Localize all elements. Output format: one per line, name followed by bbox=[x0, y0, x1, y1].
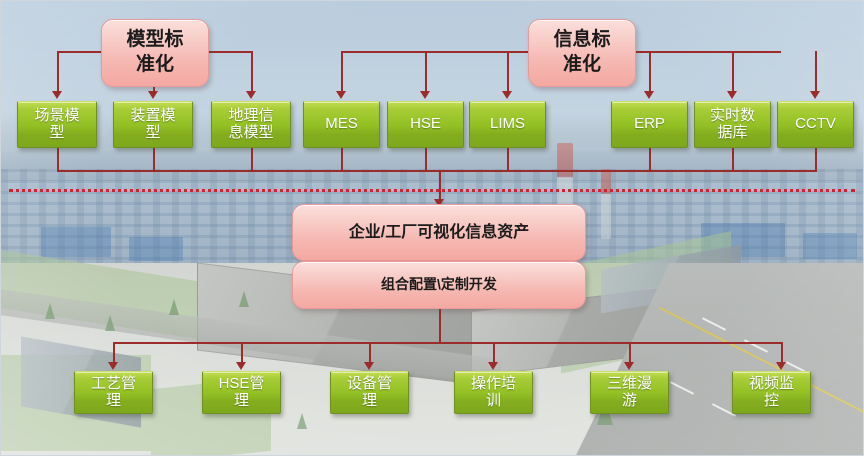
connector-app-training bbox=[493, 342, 495, 364]
arrow-down-icon bbox=[108, 362, 118, 370]
connector-app-roaming bbox=[629, 342, 631, 364]
node-hse-mgmt-line1: HSE管 bbox=[219, 375, 265, 392]
connector-cctv-drop bbox=[815, 148, 817, 172]
connector-device-drop bbox=[153, 148, 155, 172]
node-mes[interactable]: MES bbox=[303, 101, 380, 148]
node-model-standard-line2: 准化 bbox=[136, 54, 174, 75]
node-gis-model[interactable]: 地理信 息模型 bbox=[211, 101, 291, 148]
node-realtime-db[interactable]: 实时数 据库 bbox=[694, 101, 771, 148]
diagram-canvas: 模型标 准化 信息标 准化 场景模 型 装置模 型 地理信 息模型 MES HS… bbox=[0, 0, 864, 456]
connector-scene-drop bbox=[57, 148, 59, 172]
node-three-d-roaming-line1: 三维漫 bbox=[607, 375, 652, 392]
node-hse-mgmt[interactable]: HSE管 理 bbox=[202, 371, 281, 414]
connector-app-equipment bbox=[369, 342, 371, 364]
node-cctv[interactable]: CCTV bbox=[777, 101, 854, 148]
node-model-standard-line1: 模型标 bbox=[126, 29, 183, 50]
connector-erp-drop bbox=[649, 148, 651, 172]
node-equipment-mgmt-line2: 理 bbox=[362, 392, 377, 409]
connector-model-to-scene bbox=[57, 51, 59, 93]
connector-app-hse bbox=[241, 342, 243, 364]
node-equipment-mgmt[interactable]: 设备管 理 bbox=[330, 371, 409, 414]
arrow-down-icon bbox=[624, 362, 634, 370]
node-model-standard[interactable]: 模型标 准化 bbox=[101, 19, 209, 87]
arrow-down-icon bbox=[644, 91, 654, 99]
node-realtime-db-line1: 实时数 bbox=[710, 107, 755, 124]
node-equipment-mgmt-line1: 设备管 bbox=[347, 375, 392, 392]
node-operation-training[interactable]: 操作培 训 bbox=[454, 371, 533, 414]
node-video-surveillance-line2: 控 bbox=[764, 392, 779, 409]
node-operation-training-line2: 训 bbox=[486, 392, 501, 409]
node-video-surveillance-line1: 视频监 bbox=[749, 375, 794, 392]
connector-info-to-realtime-db bbox=[732, 51, 734, 93]
node-process-mgmt-line1: 工艺管 bbox=[91, 375, 136, 392]
arrow-down-icon bbox=[488, 362, 498, 370]
connector-info-to-erp bbox=[649, 51, 651, 93]
connector-model-to-gis bbox=[251, 51, 253, 93]
node-three-d-roaming[interactable]: 三维漫 游 bbox=[590, 371, 669, 414]
node-hse-mgmt-line2: 理 bbox=[234, 392, 249, 409]
arrow-down-icon bbox=[502, 91, 512, 99]
connector-mes-drop bbox=[341, 148, 343, 172]
arrow-down-icon bbox=[246, 91, 256, 99]
node-info-standard-line2: 准化 bbox=[563, 54, 601, 75]
node-info-standard-line1: 信息标 bbox=[553, 29, 610, 50]
node-process-mgmt[interactable]: 工艺管 理 bbox=[74, 371, 153, 414]
connector-info-to-mes bbox=[341, 51, 343, 93]
node-scene-model-line1: 场景模 bbox=[34, 107, 79, 124]
node-cctv-label: CCTV bbox=[778, 116, 853, 133]
connector-hse-drop bbox=[425, 148, 427, 172]
arrow-down-icon bbox=[810, 91, 820, 99]
arrow-down-icon bbox=[776, 362, 786, 370]
connector-app-process bbox=[113, 342, 115, 364]
node-device-model[interactable]: 装置模 型 bbox=[113, 101, 193, 148]
connector-gis-drop bbox=[251, 148, 253, 172]
node-config-dev-label: 组合配置\定制开发 bbox=[293, 277, 585, 293]
node-hse-label: HSE bbox=[388, 116, 463, 133]
arrow-down-icon bbox=[727, 91, 737, 99]
node-device-model-line1: 装置模 bbox=[130, 107, 175, 124]
node-scene-model-line2: 型 bbox=[49, 124, 64, 141]
arrow-down-icon bbox=[148, 91, 158, 99]
node-device-model-line2: 型 bbox=[145, 124, 160, 141]
node-hse[interactable]: HSE bbox=[387, 101, 464, 148]
node-process-mgmt-line2: 理 bbox=[106, 392, 121, 409]
connector-app-video bbox=[781, 342, 783, 364]
node-config-dev[interactable]: 组合配置\定制开发 bbox=[292, 261, 586, 309]
connector-info-to-hse bbox=[425, 51, 427, 93]
node-erp[interactable]: ERP bbox=[611, 101, 688, 148]
connector-platform-to-apps bbox=[439, 306, 441, 342]
connector-info-to-lims bbox=[507, 51, 509, 93]
connector-info-to-cctv bbox=[815, 51, 817, 93]
node-mes-label: MES bbox=[304, 116, 379, 133]
node-three-d-roaming-line2: 游 bbox=[622, 392, 637, 409]
connector-apps-bus bbox=[113, 342, 781, 344]
node-lims[interactable]: LIMS bbox=[469, 101, 546, 148]
node-realtime-db-line2: 据库 bbox=[717, 124, 747, 141]
node-video-surveillance[interactable]: 视频监 控 bbox=[732, 371, 811, 414]
section-divider bbox=[9, 189, 855, 192]
node-scene-model[interactable]: 场景模 型 bbox=[17, 101, 97, 148]
connector-sources-bus bbox=[57, 170, 817, 172]
node-visual-asset[interactable]: 企业/工厂可视化信息资产 bbox=[292, 204, 586, 261]
arrow-down-icon bbox=[336, 91, 346, 99]
arrow-down-icon bbox=[420, 91, 430, 99]
arrow-down-icon bbox=[364, 362, 374, 370]
arrow-down-icon bbox=[236, 362, 246, 370]
arrow-down-icon bbox=[52, 91, 62, 99]
connector-lims-drop bbox=[507, 148, 509, 172]
node-lims-label: LIMS bbox=[470, 116, 545, 133]
connector-realtime-db-drop bbox=[732, 148, 734, 172]
node-gis-model-line1: 地理信 bbox=[228, 107, 273, 124]
node-visual-asset-label: 企业/工厂可视化信息资产 bbox=[293, 224, 585, 242]
node-erp-label: ERP bbox=[612, 116, 687, 133]
node-info-standard[interactable]: 信息标 准化 bbox=[528, 19, 636, 87]
node-operation-training-line1: 操作培 bbox=[471, 375, 516, 392]
node-gis-model-line2: 息模型 bbox=[228, 124, 273, 141]
